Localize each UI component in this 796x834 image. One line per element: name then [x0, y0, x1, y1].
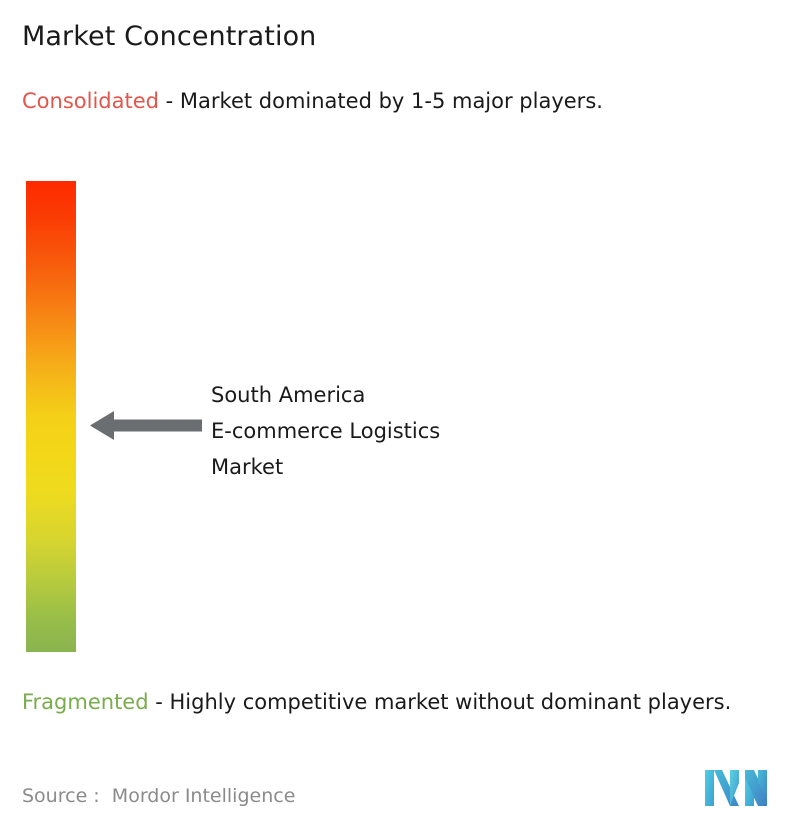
legend-fragmented-term: Fragmented — [22, 690, 149, 714]
page-title: Market Concentration — [22, 20, 316, 54]
mordor-intelligence-logo-icon — [705, 769, 767, 807]
legend-consolidated: Consolidated - Market dominated by 1-5 m… — [22, 86, 762, 117]
pointer-label-line-1: South America — [211, 377, 631, 413]
concentration-gradient-bar — [26, 181, 76, 652]
pointer-arrow-icon — [90, 409, 202, 442]
legend-fragmented-separator: - — [149, 690, 170, 714]
legend-fragmented: Fragmented - Highly competitive market w… — [22, 687, 790, 718]
legend-consolidated-term: Consolidated — [22, 89, 159, 113]
pointer-label: South America E-commerce Logistics Marke… — [211, 377, 631, 485]
source-value: Mordor Intelligence — [112, 785, 296, 807]
pointer-label-line-3: Market — [211, 449, 631, 485]
legend-fragmented-description: Highly competitive market without domina… — [170, 690, 732, 714]
pointer-label-line-2: E-commerce Logistics — [211, 413, 631, 449]
source-label: Source : — [22, 785, 100, 807]
source-attribution: Source : Mordor Intelligence — [22, 784, 295, 808]
legend-consolidated-separator: - — [159, 89, 180, 113]
legend-consolidated-description: Market dominated by 1-5 major players. — [180, 89, 603, 113]
